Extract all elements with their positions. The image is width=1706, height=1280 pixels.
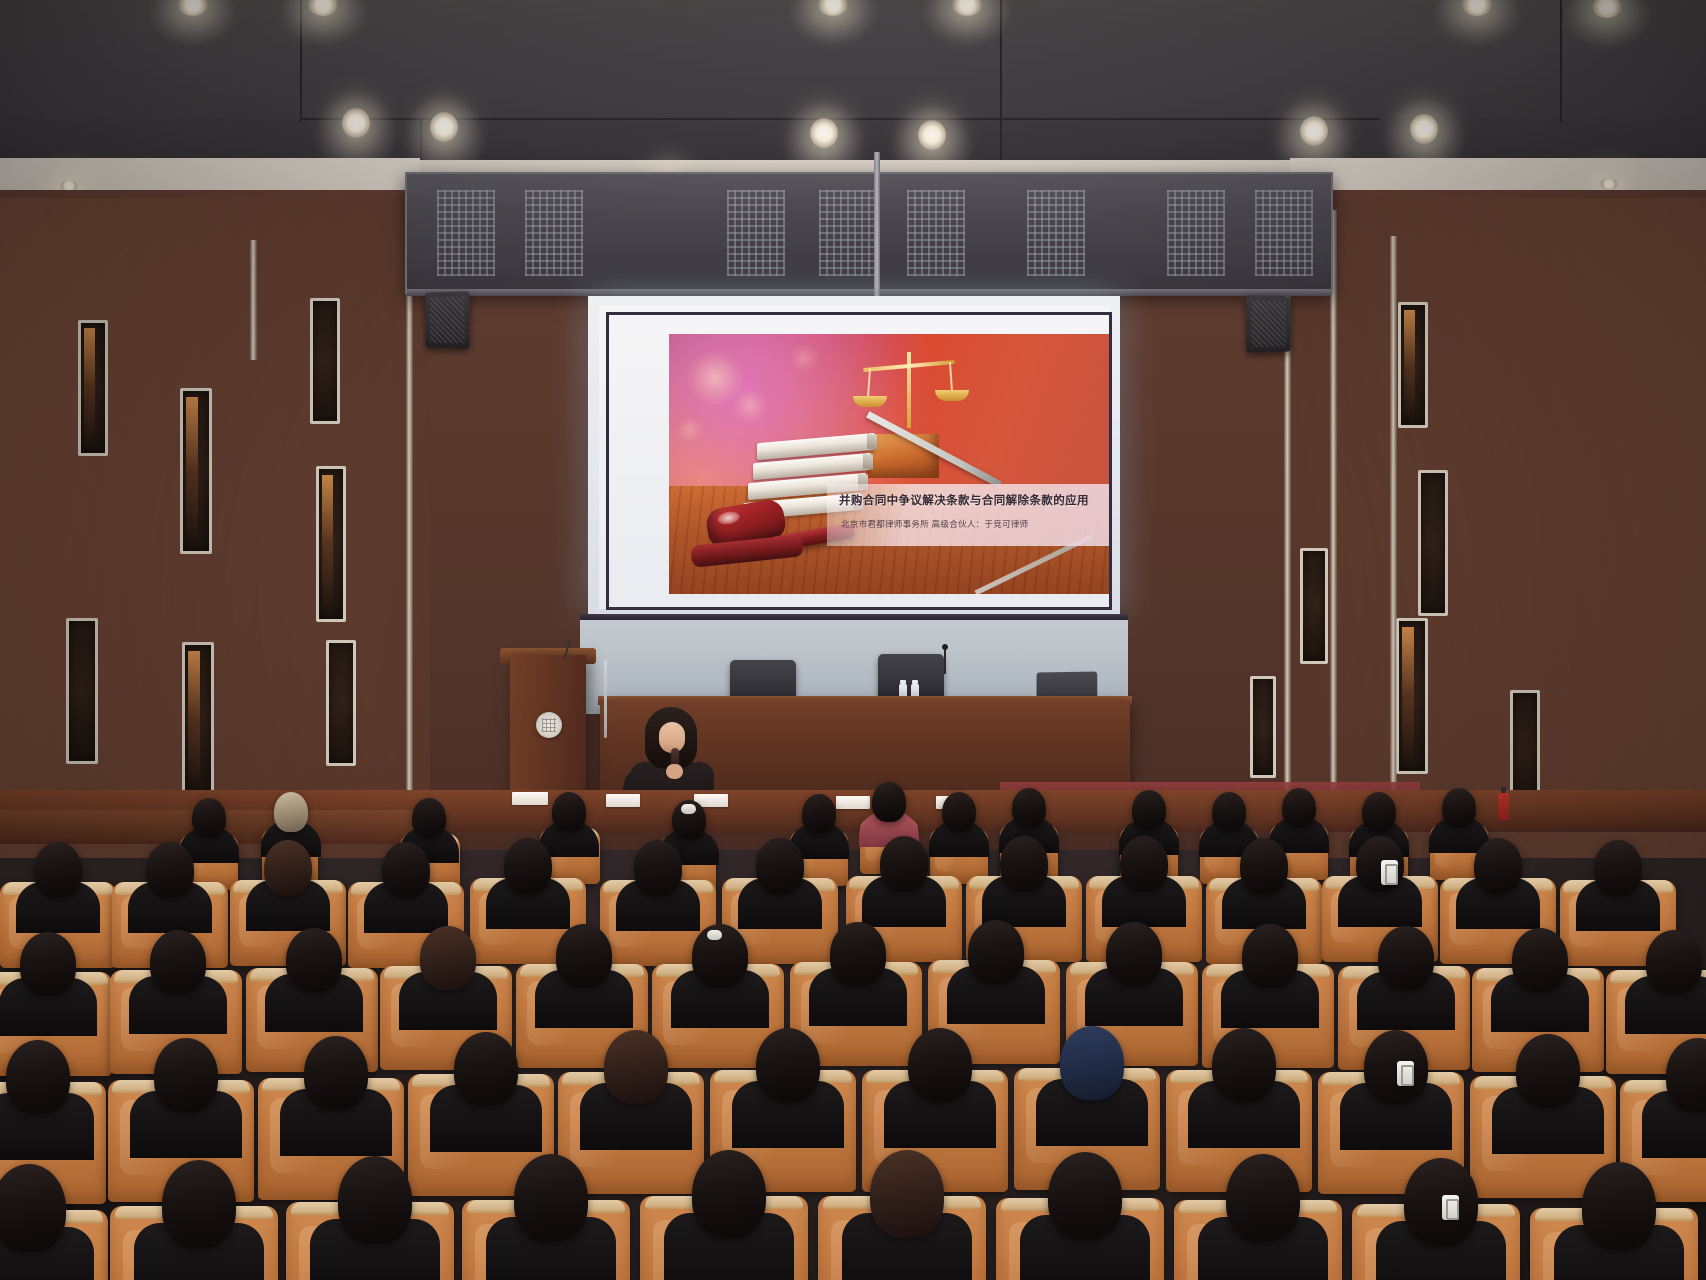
table-microphone (944, 648, 946, 674)
audience-head (942, 792, 976, 832)
hair-clip-icon (1442, 1195, 1459, 1220)
audience-head (1364, 1030, 1428, 1104)
hair-clip-slot (1385, 864, 1398, 885)
wall-niche (182, 642, 214, 798)
audience-head (1060, 1026, 1124, 1100)
wall-niche (180, 388, 212, 554)
audience-head (756, 838, 804, 894)
presentation-slide: 并购合同中争议解决条款与合同解除条款的应用 北京市君都律师事务所 高级合伙人：于… (669, 334, 1109, 594)
audience-head (454, 1032, 518, 1106)
audience-head (1516, 1034, 1580, 1108)
name-card (606, 794, 640, 807)
niche-glow (1404, 310, 1415, 420)
audience-head (692, 1150, 766, 1238)
audience-head (1282, 788, 1316, 828)
audience-head (1106, 922, 1162, 986)
wall-niche (316, 466, 346, 622)
audience-head (908, 1028, 972, 1102)
audience-head (1240, 838, 1288, 894)
name-card (512, 792, 548, 805)
audience-head (556, 924, 612, 988)
audience-head (412, 798, 446, 838)
niche-glow (84, 328, 95, 448)
wall-niche (326, 640, 356, 766)
audience-head (304, 1036, 368, 1110)
ceiling-downlight (810, 118, 838, 148)
audience-head (420, 926, 476, 990)
audience-head (880, 836, 928, 892)
slide-subtitle: 北京市君都律师事务所 高级合伙人：于竞可律师 (841, 518, 1028, 530)
audience-head (870, 1150, 944, 1238)
audience-head (1404, 1158, 1478, 1246)
audience-head (1242, 924, 1298, 988)
wall-niche (310, 298, 340, 424)
wall-niche (1250, 676, 1276, 778)
speaker-hand-right (666, 764, 683, 779)
audience-head (1000, 836, 1048, 892)
audience-head (1474, 838, 1522, 894)
audience-head (20, 932, 76, 996)
slide-pedestal (867, 434, 939, 478)
ceiling-downlight (918, 120, 946, 150)
audience-head (504, 838, 552, 894)
stage-wall-trim (580, 614, 1128, 620)
wall-speaker-right (1246, 295, 1290, 352)
audience-head (150, 930, 206, 994)
audience-head (604, 1030, 668, 1104)
audience-head (1362, 792, 1396, 832)
cable (604, 660, 607, 738)
hair-clip-icon (1381, 860, 1398, 885)
audience-head (382, 842, 430, 898)
audience-head (264, 840, 312, 896)
niche-glow (186, 397, 198, 544)
wall-pilaster (1390, 236, 1397, 796)
audience-head (634, 840, 682, 896)
auditorium-scene: PROJECTOR 并购合同中争议解决条款与合同解除条款 (0, 0, 1706, 1280)
table-microphone-head-icon (942, 644, 948, 650)
audience-head (274, 792, 308, 832)
wall-niche (1300, 548, 1328, 664)
ceiling-downlight (430, 112, 458, 142)
audience-head (162, 1160, 236, 1248)
audience-head (1594, 840, 1642, 896)
wall-niche (1510, 690, 1540, 806)
wall-niche (66, 618, 98, 764)
hair-scrunchie-icon (707, 930, 722, 940)
audience-head (192, 798, 226, 838)
wall-speaker-left (425, 291, 469, 348)
audience-head (34, 842, 82, 898)
slide-title: 并购合同中争议解决条款与合同解除条款的应用 (839, 492, 1089, 508)
audience-head (154, 1038, 218, 1112)
right-wall (1284, 198, 1706, 858)
audience-head (286, 928, 342, 992)
niche-glow (188, 651, 200, 789)
audience-head (1212, 1028, 1276, 1102)
audience-head (1378, 926, 1434, 990)
niche-glow (322, 475, 333, 613)
audience-head (1512, 928, 1568, 992)
audience-head (0, 1164, 66, 1252)
audience-head (1226, 1154, 1300, 1242)
fire-extinguisher-icon (1498, 792, 1509, 820)
audience-head (968, 920, 1024, 984)
hair-scrunchie-icon (681, 804, 696, 814)
projector-mount-pole (874, 152, 880, 302)
audience-head (872, 782, 906, 822)
audience-head (338, 1156, 412, 1244)
ceiling-downlight (1410, 114, 1438, 144)
audience-head (1132, 790, 1166, 830)
audience-head (1212, 792, 1246, 832)
niche-glow (1402, 627, 1414, 765)
ceiling-downlight (1300, 116, 1328, 146)
audience-head (514, 1154, 588, 1242)
wall-niche (1418, 470, 1448, 616)
name-card (836, 796, 870, 809)
wall-niche (1396, 618, 1428, 774)
wall-niche (1398, 302, 1428, 428)
left-wall (0, 198, 430, 858)
hair-clip-slot (1401, 1065, 1414, 1086)
audience-head (552, 792, 586, 832)
ceiling-bulkhead (405, 172, 1333, 294)
hair-clip-icon (1397, 1061, 1414, 1086)
slide-text-plate: 并购合同中争议解决条款与合同解除条款的应用 北京市君都律师事务所 高级合伙人：于… (827, 484, 1109, 546)
audience-head (1646, 930, 1702, 994)
wall-pilaster (1330, 210, 1337, 800)
audience-head (1120, 836, 1168, 892)
audience-head (802, 794, 836, 834)
wall-niche (78, 320, 108, 456)
audience-head (830, 922, 886, 986)
ceiling-downlight (1600, 178, 1618, 190)
audience-head (756, 1028, 820, 1102)
institution-emblem-icon (536, 712, 562, 738)
audience-head (1048, 1152, 1122, 1240)
audience-head (6, 1040, 70, 1114)
audience-head (1442, 788, 1476, 828)
ceiling-downlight (342, 108, 370, 138)
wall-pilaster (250, 240, 257, 360)
audience-head (1582, 1162, 1656, 1250)
audience-head (146, 842, 194, 898)
hair-clip-slot (1446, 1199, 1459, 1220)
audience-head (1012, 788, 1046, 828)
